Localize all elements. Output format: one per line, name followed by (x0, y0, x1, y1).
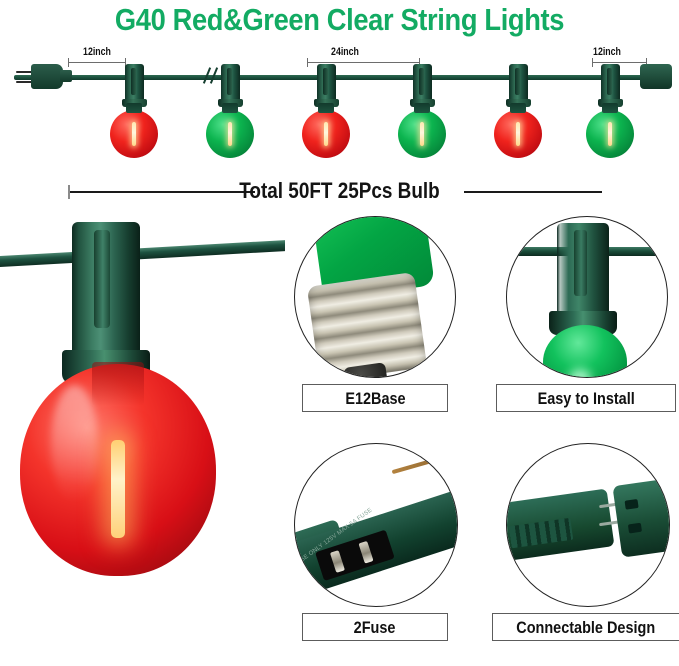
feature-card-connect: Connectable Design (492, 443, 678, 657)
feature-caption-connect: Connectable Design (492, 613, 679, 641)
hero-red-bulb (0, 212, 285, 666)
feature-caption-fuse: 2Fuse (302, 613, 448, 641)
socket-clip (323, 68, 328, 95)
bulb-filament (324, 122, 328, 145)
socket-lever (574, 230, 587, 296)
bulb-highlight (51, 385, 98, 502)
hero-bulb-glass (20, 364, 216, 576)
page-title: G40 Red&Green Clear String Lights (41, 2, 639, 38)
socket-6 (601, 64, 620, 102)
bulb-neck (510, 103, 526, 113)
diagram-bulb-6 (586, 110, 634, 158)
connect-photo-circle (506, 443, 670, 607)
total-length-label: Total 50FT 25Pcs Bulb (48, 176, 632, 206)
male-plug (31, 64, 63, 89)
feature-card-e12base: E12Base (286, 216, 462, 428)
fuse-1 (330, 550, 345, 573)
dimension-label-spacing: 24inch (317, 46, 373, 58)
product-infographic: G40 Red&Green Clear String Lights 12inch… (0, 0, 679, 666)
bulb-neck (602, 103, 618, 113)
dimension-label-tail: 12inch (579, 46, 635, 58)
connector-slot-1 (625, 499, 639, 510)
socket-clip (131, 68, 136, 95)
plug-prong (392, 454, 451, 474)
connector-slot-2 (628, 523, 642, 534)
feature-caption-e12base: E12Base (302, 384, 448, 412)
dimension-line-lead (68, 62, 126, 63)
bulb-neck (222, 103, 238, 113)
bulb-filament (608, 122, 612, 145)
dimension-label-lead: 12inch (69, 46, 125, 58)
connector-ribs (509, 518, 573, 548)
feature-caption-install: Easy to Install (496, 384, 676, 412)
bulb-glow (569, 369, 591, 378)
male-connector (612, 474, 670, 557)
plug-body: USE ONLY 125V MAX 5A FUSE (294, 483, 458, 599)
bulb-filament (228, 122, 232, 145)
socket-2 (221, 64, 240, 102)
socket-1 (125, 64, 144, 102)
bulb-neck (126, 103, 142, 113)
fuse-2 (358, 541, 373, 564)
dimension-line-tail (592, 62, 647, 63)
e12base-photo-circle (294, 216, 456, 378)
bulb-filament (132, 122, 136, 145)
socket-clip (607, 68, 612, 95)
socket-5 (509, 64, 528, 102)
diagram-bulb-4 (398, 110, 446, 158)
bulb-filament (420, 122, 424, 145)
diagram-bulb-2 (206, 110, 254, 158)
socket-clip (515, 68, 520, 95)
fuse-photo-circle: USE ONLY 125V MAX 5A FUSE (294, 443, 458, 607)
feature-card-install: Easy to Install (492, 216, 678, 428)
feature-caption-text: 2Fuse (354, 618, 396, 637)
hero-socket (72, 222, 140, 362)
bulb-neck (414, 103, 430, 113)
feature-card-fuse: USE ONLY 125V MAX 5A FUSE 2Fuse (286, 443, 462, 657)
feature-caption-text: Connectable Design (517, 618, 656, 637)
string-light-diagram: 12inch 24inch 12inch (0, 44, 679, 179)
bulb-filament (111, 440, 125, 538)
diagram-bulb-5 (494, 110, 542, 158)
socket-clip (227, 68, 232, 95)
socket-clip (419, 68, 424, 95)
hero-wire (0, 240, 285, 268)
diagram-bulb-3 (302, 110, 350, 158)
bulb-neck (318, 103, 334, 113)
total-length-bar: Total 50FT 25Pcs Bulb (0, 176, 679, 208)
bulb-stem (92, 362, 144, 406)
female-connector (506, 488, 614, 561)
male-plug-neck (60, 70, 72, 82)
socket-3 (317, 64, 336, 102)
feature-caption-text: E12Base (345, 389, 405, 408)
socket-4 (413, 64, 432, 102)
install-socket (557, 223, 609, 319)
socket-lever (94, 230, 110, 328)
diagram-bulb-1 (110, 110, 158, 158)
bulb-filament (516, 122, 520, 145)
e12-screw-thread (307, 272, 427, 378)
dimension-line-spacing (307, 62, 420, 63)
install-photo-circle (506, 216, 668, 378)
female-end-connector (640, 64, 672, 89)
feature-caption-text: Easy to Install (537, 389, 634, 408)
